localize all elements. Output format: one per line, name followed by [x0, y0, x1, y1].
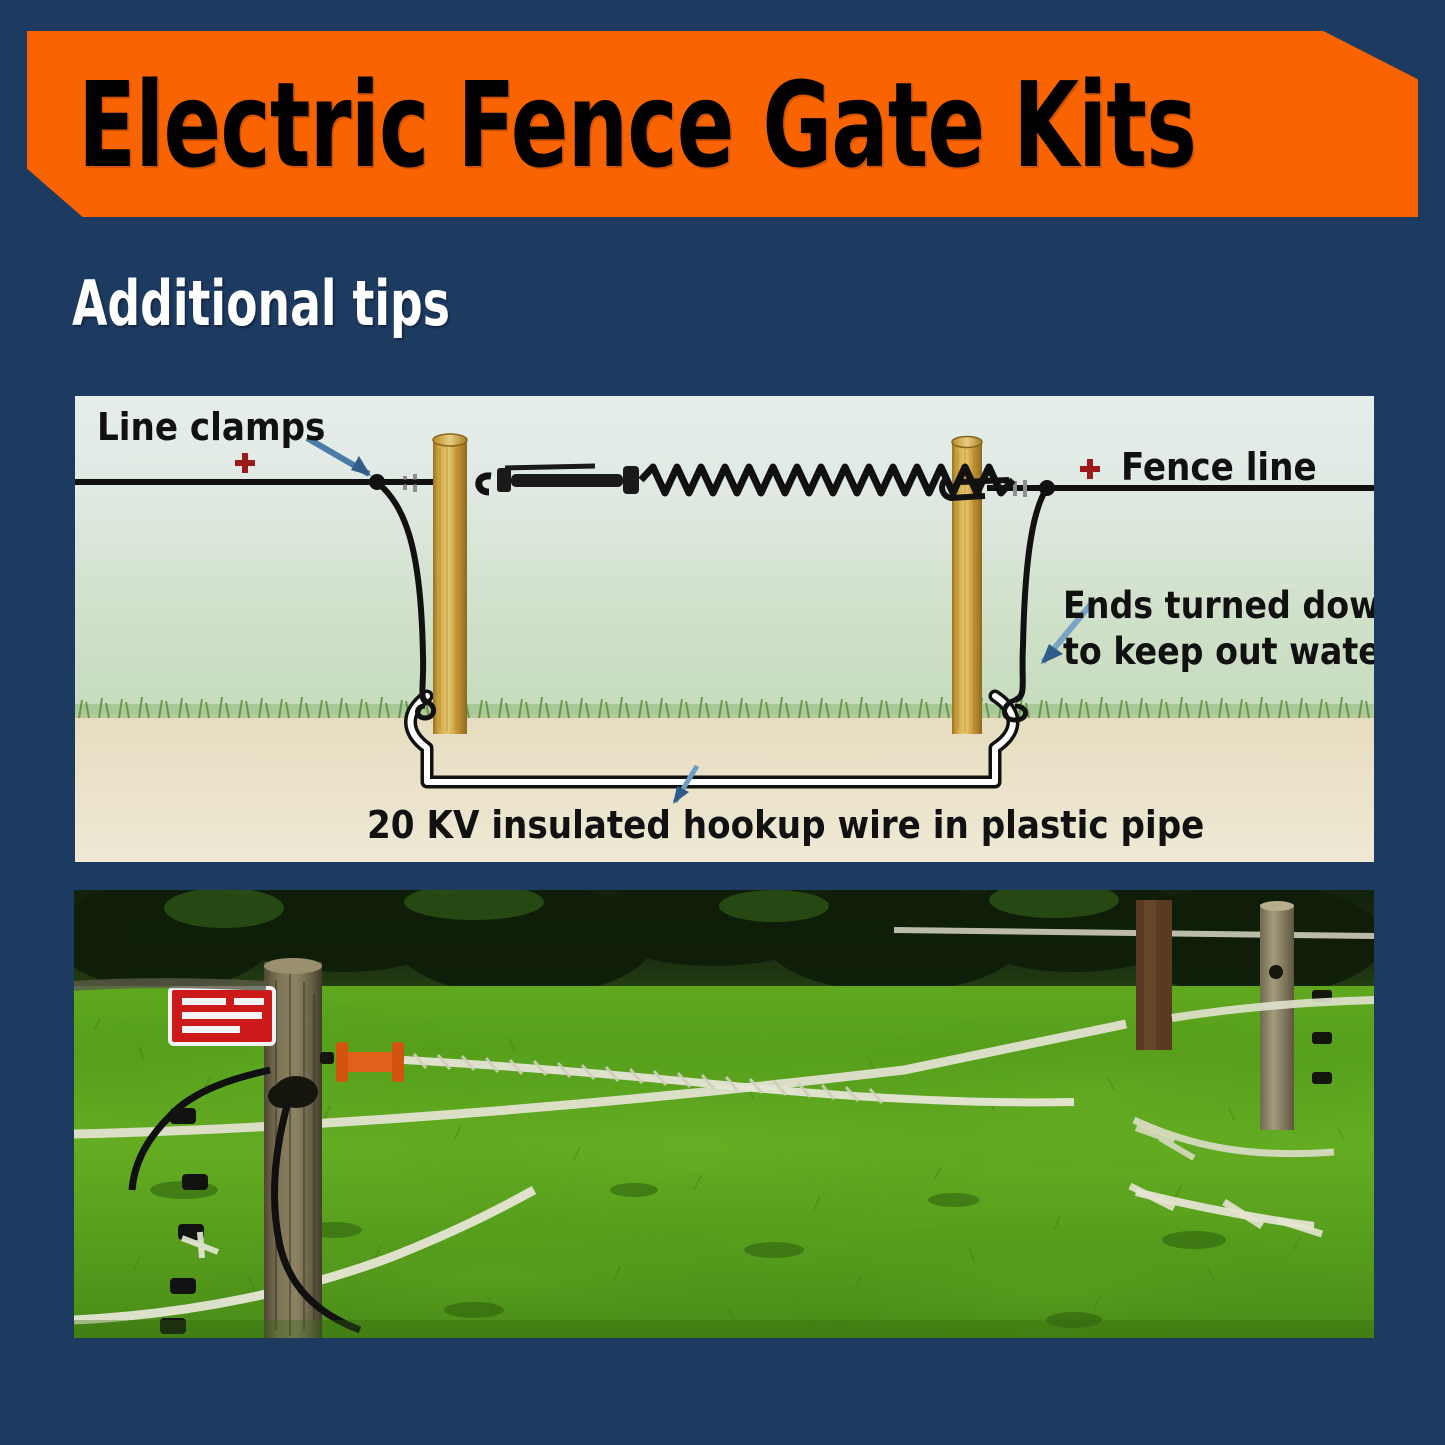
gate-wire-tail — [961, 480, 1009, 482]
label-ends-turned-down-line2: to keep out water — [1063, 630, 1374, 673]
section-heading: Additional tips — [72, 268, 450, 340]
page-root: Electric Fence Gate Kits Additional tips — [0, 0, 1445, 1445]
photo-panel — [74, 890, 1374, 1338]
label-ends-turned-down-line1: Ends turned down — [1063, 584, 1374, 627]
photo-warning-sign — [170, 988, 274, 1044]
photo-foreground-shadow — [74, 1320, 1374, 1338]
photo-third-post — [1260, 901, 1294, 1130]
label-line-clamps: Line clamps — [97, 405, 325, 449]
gate-post-left — [433, 434, 467, 734]
photo-top-wire — [74, 983, 266, 986]
photo-second-post — [1136, 900, 1172, 1050]
diagram-panel: Line clamps Fence line Ends turned down … — [75, 396, 1374, 862]
fence-gate-photo — [74, 890, 1374, 1338]
label-fence-line: Fence line — [1121, 445, 1317, 489]
page-title: Electric Fence Gate Kits — [78, 52, 1118, 198]
fence-gate-diagram: Line clamps Fence line Ends turned down … — [75, 396, 1374, 862]
label-hookup-wire: 20 KV insulated hookup wire in plastic p… — [367, 803, 1204, 847]
